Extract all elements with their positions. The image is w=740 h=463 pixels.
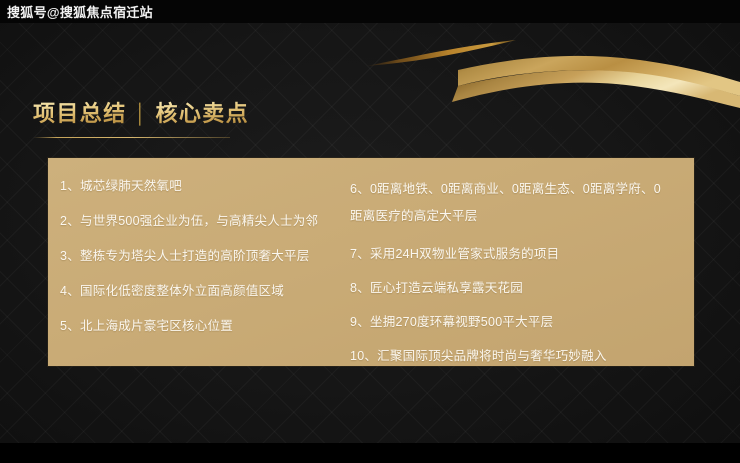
title-left-text: 项目总结: [33, 96, 127, 128]
watermark-text: 搜狐号@搜狐焦点宿迁站: [0, 2, 153, 21]
title-underline: [33, 137, 230, 138]
selling-points-left-column: 1、城芯绿肺天然氧吧 2、与世界500强企业为伍，与高精尖人士为邻 3、整栋专为…: [48, 158, 344, 366]
bottom-letterbox-bar: [0, 443, 740, 463]
list-item: 3、整栋专为塔尖人士打造的高阶顶奢大平层: [60, 246, 344, 266]
selling-points-panel: 1、城芯绿肺天然氧吧 2、与世界500强企业为伍，与高精尖人士为邻 3、整栋专为…: [48, 158, 694, 366]
list-item: 10、汇聚国际顶尖品牌将时尚与奢华巧妙融入: [350, 346, 694, 366]
list-item: 8、匠心打造云端私享露天花园: [350, 278, 694, 298]
list-item: 4、国际化低密度整体外立面高颜值区域: [60, 281, 344, 301]
list-item: 6、0距离地铁、0距离商业、0距离生态、0距离学府、0距离医疗的高定大平层: [350, 176, 662, 230]
list-item: 9、坐拥270度环幕视野500平大平层: [350, 312, 694, 332]
watermark-bar: 搜狐号@搜狐焦点宿迁站: [0, 0, 740, 23]
title-right-text: 核心卖点: [155, 96, 249, 128]
page-title: 项目总结 │ 核心卖点: [33, 96, 433, 138]
title-row: 项目总结 │ 核心卖点: [33, 96, 433, 128]
slide-canvas: 搜狐号@搜狐焦点宿迁站 项目总结 │ 核心卖点 1、城芯绿肺天然氧吧 2、与世界…: [0, 0, 740, 463]
list-item: 1、城芯绿肺天然氧吧: [60, 176, 344, 196]
list-item: 5、北上海成片豪宅区核心位置: [60, 316, 344, 336]
title-divider: │: [135, 104, 147, 126]
selling-points-right-column: 6、0距离地铁、0距离商业、0距离生态、0距离学府、0距离医疗的高定大平层 7、…: [344, 158, 694, 366]
list-item: 7、采用24H双物业管家式服务的项目: [350, 244, 694, 264]
list-item: 2、与世界500强企业为伍，与高精尖人士为邻: [60, 211, 344, 231]
